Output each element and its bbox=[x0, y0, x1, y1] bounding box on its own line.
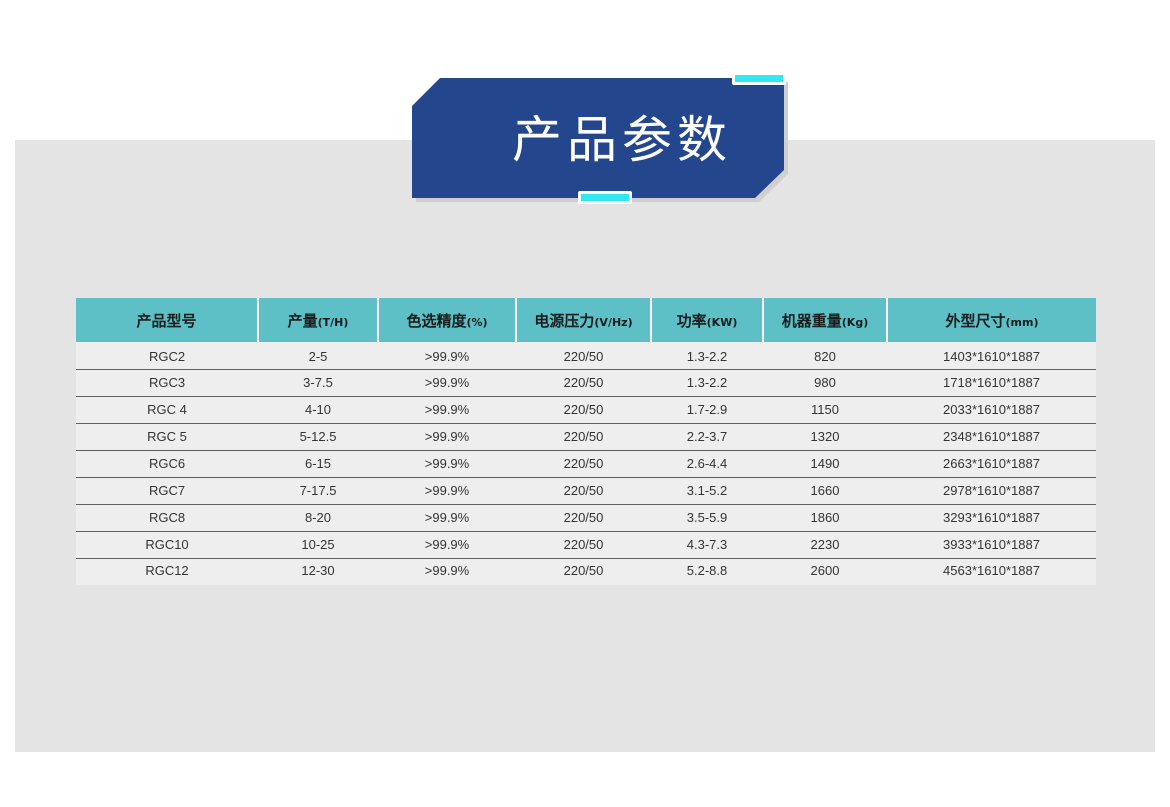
cell-output: 3-7.5 bbox=[258, 369, 378, 396]
column-header-voltage: 电源压力(V/Hz) bbox=[516, 298, 651, 342]
table-header-row: 产品型号 产量(T/H) 色选精度(%) 电源压力(V/Hz) 功率(KW) 机… bbox=[76, 298, 1096, 342]
cell-power: 3.1-5.2 bbox=[651, 477, 763, 504]
column-header-size: 外型尺寸(mm) bbox=[887, 298, 1096, 342]
column-header-weight-label: 机器重量 bbox=[782, 312, 842, 330]
cell-accuracy: >99.9% bbox=[378, 396, 516, 423]
cell-power: 1.3-2.2 bbox=[651, 342, 763, 369]
table-row: RGC1010-25>99.9%220/504.3-7.322303933*16… bbox=[76, 531, 1096, 558]
cell-voltage: 220/50 bbox=[516, 450, 651, 477]
cell-size: 1403*1610*1887 bbox=[887, 342, 1096, 369]
cell-model: RGC 4 bbox=[76, 396, 258, 423]
cell-model: RGC10 bbox=[76, 531, 258, 558]
cell-voltage: 220/50 bbox=[516, 504, 651, 531]
product-spec-table: 产品型号 产量(T/H) 色选精度(%) 电源压力(V/Hz) 功率(KW) 机… bbox=[76, 298, 1096, 585]
column-header-voltage-unit: (V/Hz) bbox=[594, 316, 632, 329]
cell-model: RGC2 bbox=[76, 342, 258, 369]
cell-size: 2033*1610*1887 bbox=[887, 396, 1096, 423]
cell-voltage: 220/50 bbox=[516, 477, 651, 504]
cell-power: 2.2-3.7 bbox=[651, 423, 763, 450]
cell-output: 2-5 bbox=[258, 342, 378, 369]
cell-model: RGC 5 bbox=[76, 423, 258, 450]
table-header: 产品型号 产量(T/H) 色选精度(%) 电源压力(V/Hz) 功率(KW) 机… bbox=[76, 298, 1096, 342]
cell-accuracy: >99.9% bbox=[378, 531, 516, 558]
column-header-accuracy-unit: (%) bbox=[466, 316, 487, 329]
cell-accuracy: >99.9% bbox=[378, 423, 516, 450]
table-row: RGC22-5>99.9%220/501.3-2.28201403*1610*1… bbox=[76, 342, 1096, 369]
cell-accuracy: >99.9% bbox=[378, 504, 516, 531]
column-header-output-unit: (T/H) bbox=[318, 316, 349, 329]
cell-voltage: 220/50 bbox=[516, 369, 651, 396]
cell-voltage: 220/50 bbox=[516, 531, 651, 558]
cell-size: 1718*1610*1887 bbox=[887, 369, 1096, 396]
column-header-power-label: 功率 bbox=[677, 312, 707, 330]
cell-size: 2978*1610*1887 bbox=[887, 477, 1096, 504]
cell-size: 2663*1610*1887 bbox=[887, 450, 1096, 477]
column-header-power-unit: (KW) bbox=[707, 316, 738, 329]
page-title: 产品参数 bbox=[412, 78, 784, 198]
cell-size: 3933*1610*1887 bbox=[887, 531, 1096, 558]
cell-voltage: 220/50 bbox=[516, 423, 651, 450]
column-header-weight-unit: (Kg) bbox=[842, 316, 868, 329]
column-header-output: 产量(T/H) bbox=[258, 298, 378, 342]
table-body: RGC22-5>99.9%220/501.3-2.28201403*1610*1… bbox=[76, 342, 1096, 585]
section-title-banner: 产品参数 bbox=[412, 78, 784, 198]
column-header-size-unit: (mm) bbox=[1006, 316, 1039, 329]
cell-weight: 2600 bbox=[763, 558, 887, 585]
cell-size: 2348*1610*1887 bbox=[887, 423, 1096, 450]
cell-model: RGC12 bbox=[76, 558, 258, 585]
cell-accuracy: >99.9% bbox=[378, 342, 516, 369]
cell-weight: 1660 bbox=[763, 477, 887, 504]
table-row: RGC1212-30>99.9%220/505.2-8.826004563*16… bbox=[76, 558, 1096, 585]
table-row: RGC 55-12.5>99.9%220/502.2-3.713202348*1… bbox=[76, 423, 1096, 450]
cell-weight: 820 bbox=[763, 342, 887, 369]
cell-weight: 980 bbox=[763, 369, 887, 396]
cell-output: 6-15 bbox=[258, 450, 378, 477]
cell-voltage: 220/50 bbox=[516, 342, 651, 369]
column-header-accuracy-label: 色选精度 bbox=[406, 312, 466, 330]
cell-output: 12-30 bbox=[258, 558, 378, 585]
table-row: RGC88-20>99.9%220/503.5-5.918603293*1610… bbox=[76, 504, 1096, 531]
cell-output: 5-12.5 bbox=[258, 423, 378, 450]
cell-output: 8-20 bbox=[258, 504, 378, 531]
cell-voltage: 220/50 bbox=[516, 558, 651, 585]
column-header-model: 产品型号 bbox=[76, 298, 258, 342]
cell-power: 2.6-4.4 bbox=[651, 450, 763, 477]
table-row: RGC77-17.5>99.9%220/503.1-5.216602978*16… bbox=[76, 477, 1096, 504]
cell-weight: 1150 bbox=[763, 396, 887, 423]
cell-size: 4563*1610*1887 bbox=[887, 558, 1096, 585]
spec-table-container: 产品型号 产量(T/H) 色选精度(%) 电源压力(V/Hz) 功率(KW) 机… bbox=[76, 298, 1096, 585]
cell-power: 1.7-2.9 bbox=[651, 396, 763, 423]
table-row: RGC66-15>99.9%220/502.6-4.414902663*1610… bbox=[76, 450, 1096, 477]
column-header-model-label: 产品型号 bbox=[136, 312, 196, 330]
table-row: RGC 44-10>99.9%220/501.7-2.911502033*161… bbox=[76, 396, 1096, 423]
product-parameters-page: 产品参数 产品型号 产量(T/H) 色选精度(%) 电源压力(V/Hz) bbox=[0, 0, 1170, 807]
column-header-weight: 机器重量(Kg) bbox=[763, 298, 887, 342]
cell-model: RGC8 bbox=[76, 504, 258, 531]
banner-accent-top-bar bbox=[732, 72, 786, 85]
cell-output: 7-17.5 bbox=[258, 477, 378, 504]
cell-accuracy: >99.9% bbox=[378, 558, 516, 585]
cell-weight: 1490 bbox=[763, 450, 887, 477]
column-header-voltage-label: 电源压力 bbox=[534, 312, 594, 330]
cell-size: 3293*1610*1887 bbox=[887, 504, 1096, 531]
cell-model: RGC7 bbox=[76, 477, 258, 504]
column-header-size-label: 外型尺寸 bbox=[946, 312, 1006, 330]
cell-model: RGC6 bbox=[76, 450, 258, 477]
cell-power: 5.2-8.8 bbox=[651, 558, 763, 585]
cell-power: 4.3-7.3 bbox=[651, 531, 763, 558]
column-header-accuracy: 色选精度(%) bbox=[378, 298, 516, 342]
cell-accuracy: >99.9% bbox=[378, 477, 516, 504]
banner-accent-bottom-bar bbox=[578, 191, 632, 204]
cell-accuracy: >99.9% bbox=[378, 369, 516, 396]
cell-voltage: 220/50 bbox=[516, 396, 651, 423]
cell-output: 4-10 bbox=[258, 396, 378, 423]
column-header-output-label: 产量 bbox=[288, 312, 318, 330]
cell-weight: 1860 bbox=[763, 504, 887, 531]
cell-weight: 1320 bbox=[763, 423, 887, 450]
table-row: RGC33-7.5>99.9%220/501.3-2.29801718*1610… bbox=[76, 369, 1096, 396]
cell-accuracy: >99.9% bbox=[378, 450, 516, 477]
cell-power: 1.3-2.2 bbox=[651, 369, 763, 396]
cell-power: 3.5-5.9 bbox=[651, 504, 763, 531]
cell-output: 10-25 bbox=[258, 531, 378, 558]
column-header-power: 功率(KW) bbox=[651, 298, 763, 342]
cell-model: RGC3 bbox=[76, 369, 258, 396]
cell-weight: 2230 bbox=[763, 531, 887, 558]
